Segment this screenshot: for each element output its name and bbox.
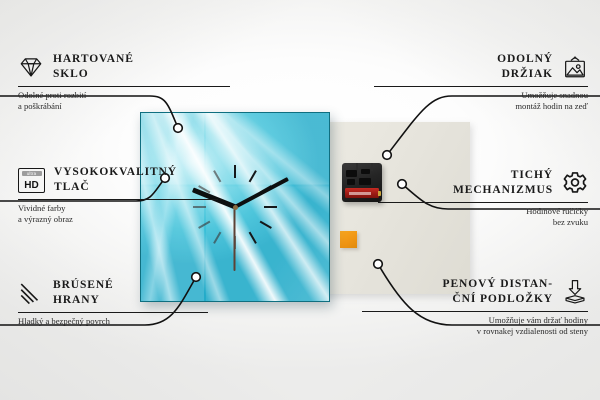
feature-title-line: BRÚSENÉ [53,278,114,293]
feature-title-line: HRANY [53,293,114,308]
feature-description-line: montáž hodin na zeď [374,101,588,112]
ultra-hd-icon-main-text: HD [19,180,44,191]
feature-divider [18,312,208,313]
feature-header: ODOLNÝ DRŽIAK [374,52,588,82]
ultra-hd-icon-top-text: ultra [22,171,42,176]
feature-description-line: a výrazný obraz [18,214,218,225]
feature-header: HARTOVANÉ SKLO [18,52,230,82]
feature-divider [362,311,588,312]
connector-node-foam-spacers [374,260,383,269]
feature-description-line: v rovnakej vzdialenosti od steny [362,326,588,337]
feature-title-line: VYSOKOKVALITNÝ [54,165,177,180]
feature-divider [374,86,588,87]
feature-title-line: ODOLNÝ [497,52,553,67]
feature-ground-edges: BRÚSENÉ HRANY Hladký a bezpečný povrch [18,278,208,327]
feature-header: TICHÝ MECHANIZMUS [378,168,588,198]
feature-title-line: MECHANIZMUS [453,183,553,198]
feature-title-line: HARTOVANÉ [53,52,134,67]
feature-divider [18,86,230,87]
feature-foam-spacers: PENOVÝ DISTAN- ČNÍ PODLOŽKY Umožňuje vám… [362,277,588,338]
diagonal-lines-icon [18,280,44,306]
feature-description-line: Hladký a bezpečný povrch [18,316,208,327]
diamond-icon [18,54,44,80]
feature-description-line: Umožňuje vám držať hodiny [362,315,588,326]
feature-header: BRÚSENÉ HRANY [18,278,208,308]
feature-description-line: a poškrábání [18,101,230,112]
feature-header: PENOVÝ DISTAN- ČNÍ PODLOŽKY [362,277,588,307]
feature-title-line: DRŽIAK [502,67,553,82]
feature-title-line: PENOVÝ DISTAN- [443,277,553,292]
ultra-hd-icon: ultra HD [18,168,45,193]
arrow-onto-stack-icon [562,279,588,305]
hanging-picture-frame-icon [562,54,588,80]
infographic-canvas: HARTOVANÉ SKLO Odolné proti rozbití a po… [0,0,600,400]
feature-description-line: Odolné proti rozbití [18,90,230,101]
feature-title-line: ČNÍ PODLOŽKY [452,292,553,307]
feature-header: ultra HD VYSOKOKVALITNÝ TLAČ [18,165,218,195]
feature-divider [18,199,218,200]
feature-high-quality-print: ultra HD VYSOKOKVALITNÝ TLAČ Vividné far… [18,165,218,226]
feature-title-line: TLAČ [54,180,177,195]
feature-titles: VYSOKOKVALITNÝ TLAČ [54,165,177,195]
feature-tempered-glass: HARTOVANÉ SKLO Odolné proti rozbití a po… [18,52,230,113]
feature-description-line: bez zvuku [378,217,588,228]
feature-description-line: Umožňuje snadnou [374,90,588,101]
feature-description-line: Hodinové ručičky [378,206,588,217]
feature-durable-hanger: ODOLNÝ DRŽIAK Umožňuje snadnou montáž ho… [374,52,588,113]
feature-titles: ODOLNÝ DRŽIAK [497,52,553,82]
feature-titles: PENOVÝ DISTAN- ČNÍ PODLOŽKY [443,277,553,307]
gear-icon [562,170,588,196]
connector-node-durable-hanger [383,151,392,160]
feature-title-line: SKLO [53,67,134,82]
feature-title-line: TICHÝ [511,168,553,183]
connector-node-tempered-glass [174,124,183,133]
feature-description-line: Vividné farby [18,203,218,214]
feature-silent-mechanism: TICHÝ MECHANIZMUS Hodinové ručičky bez z… [378,168,588,229]
feature-divider [378,202,588,203]
feature-titles: BRÚSENÉ HRANY [53,278,114,308]
feature-titles: HARTOVANÉ SKLO [53,52,134,82]
feature-titles: TICHÝ MECHANIZMUS [453,168,553,198]
